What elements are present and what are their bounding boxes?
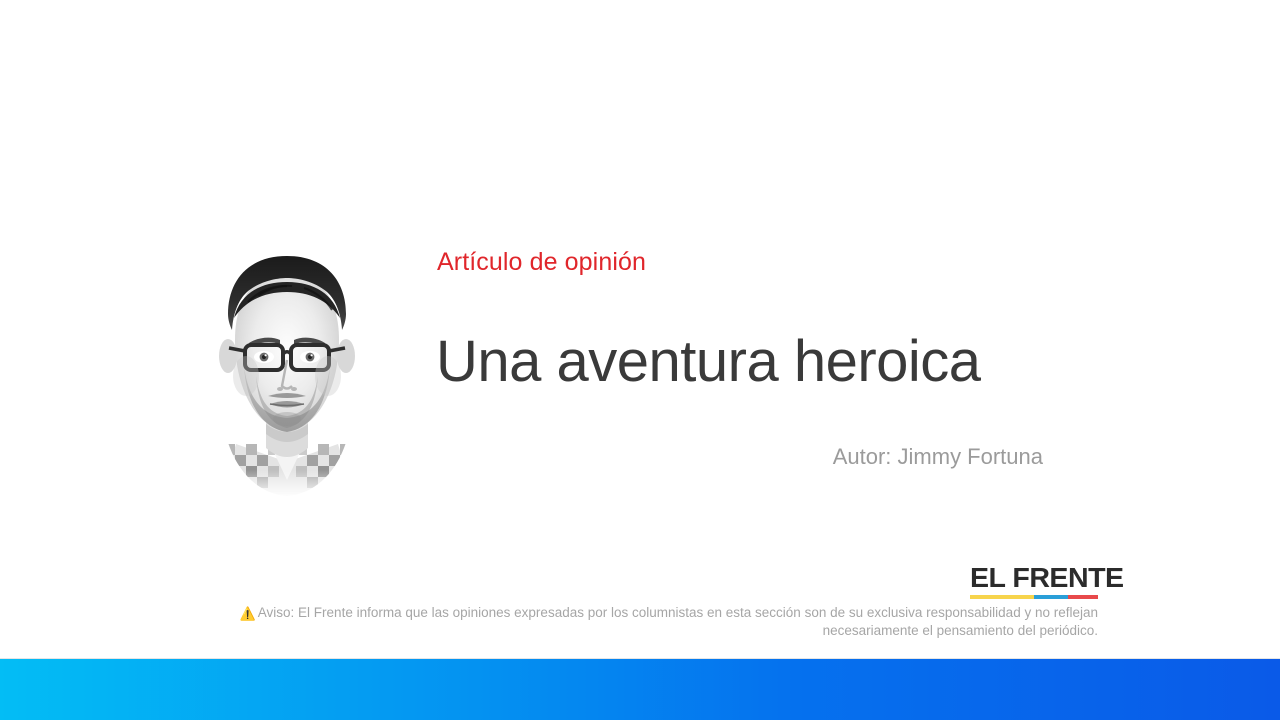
article-kicker: Artículo de opinión: [437, 247, 646, 277]
author-portrait-image: [196, 248, 378, 498]
el-frente-logo: EL FRENTE: [970, 564, 1098, 599]
author-portrait: [196, 248, 378, 498]
logo-bar-blue: [1034, 595, 1068, 599]
logo-bar-red: [1068, 595, 1098, 599]
page-title: Una aventura heroica: [436, 327, 981, 397]
disclaimer: ⚠️Aviso: El Frente informa que las opini…: [190, 604, 1098, 639]
logo-tricolor-bar: [970, 595, 1098, 599]
disclaimer-text: Aviso: El Frente informa que las opinion…: [258, 605, 1098, 638]
logo-wordmark: EL FRENTE: [970, 564, 1101, 592]
author-byline: Autor: Jimmy Fortuna: [437, 443, 1043, 470]
opinion-article-slide: Artículo de opinión Una aventura heroica…: [0, 0, 1280, 720]
bottom-gradient-band: [0, 659, 1280, 720]
logo-bar-yellow: [970, 595, 1034, 599]
warning-triangle-icon: ⚠️: [240, 606, 256, 621]
